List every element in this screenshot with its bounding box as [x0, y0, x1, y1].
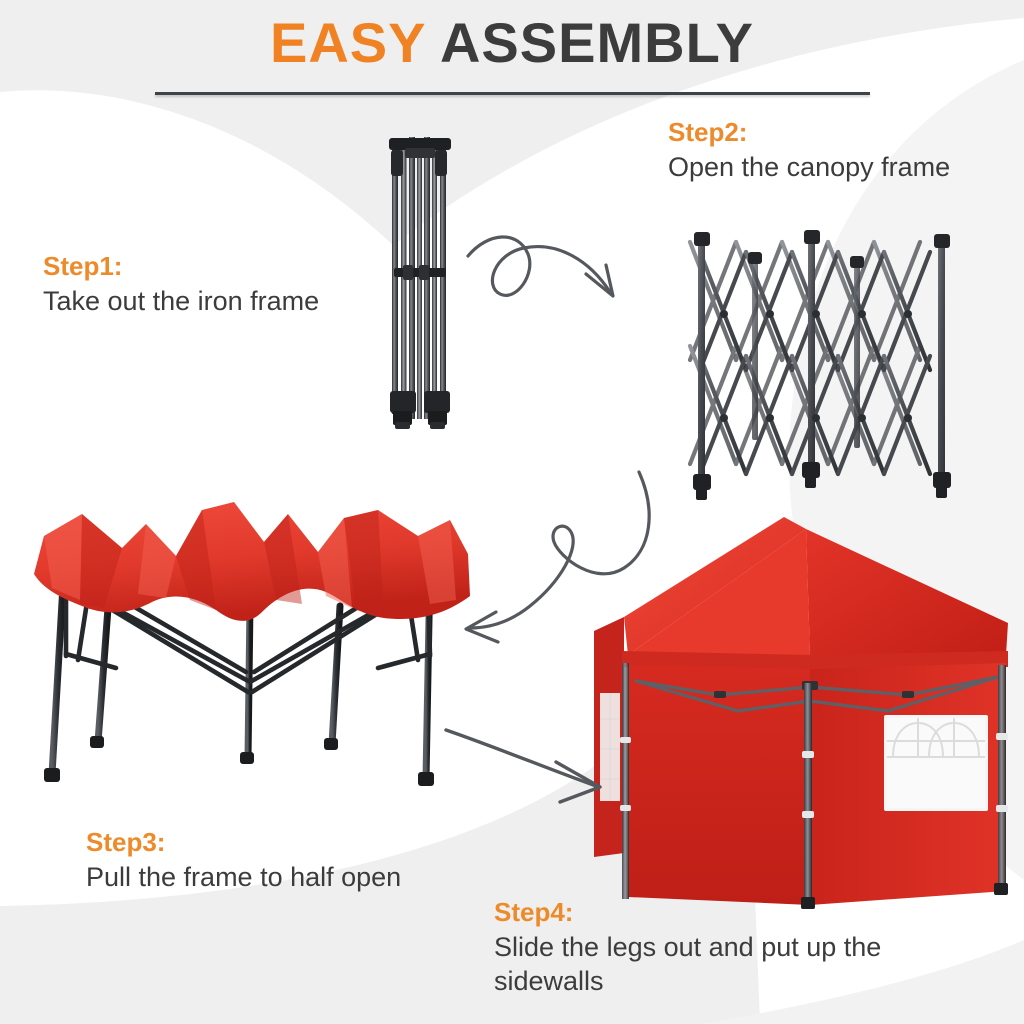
- page-title: EASY ASSEMBLY: [0, 14, 1024, 73]
- step-3-description: Pull the frame to half open: [86, 861, 506, 895]
- step-2-caption: Step2: Open the canopy frame: [668, 118, 1018, 185]
- expanded-frame-image: [676, 222, 988, 502]
- step-1-description: Take out the iron frame: [43, 285, 443, 319]
- step-1-label: Step1:: [43, 252, 443, 282]
- step-1-caption: Step1: Take out the iron frame: [43, 252, 443, 319]
- half-open-canopy-image: [26, 496, 476, 806]
- step-4-description: Slide the legs out and put up the sidewa…: [494, 931, 894, 999]
- step-3-label: Step3:: [86, 828, 506, 858]
- step-4-label: Step4:: [494, 898, 914, 928]
- infographic-canvas: EASY ASSEMBLY: [0, 0, 1024, 1024]
- step-2-description: Open the canopy frame: [668, 151, 1018, 185]
- step-2-label: Step2:: [668, 118, 1018, 148]
- title-rest: ASSEMBLY: [426, 11, 754, 74]
- curved-loop-arrow-step2-to-step3: [456, 470, 671, 660]
- title-divider-rule: [155, 92, 870, 95]
- curved-loop-arrow-step1-to-step2: [466, 216, 646, 336]
- step-4-caption: Step4: Slide the legs out and put up the…: [494, 898, 914, 998]
- curved-arrow-step3-to-step4: [436, 704, 636, 824]
- title-highlight: EASY: [270, 11, 425, 74]
- step-3-caption: Step3: Pull the frame to half open: [86, 828, 506, 895]
